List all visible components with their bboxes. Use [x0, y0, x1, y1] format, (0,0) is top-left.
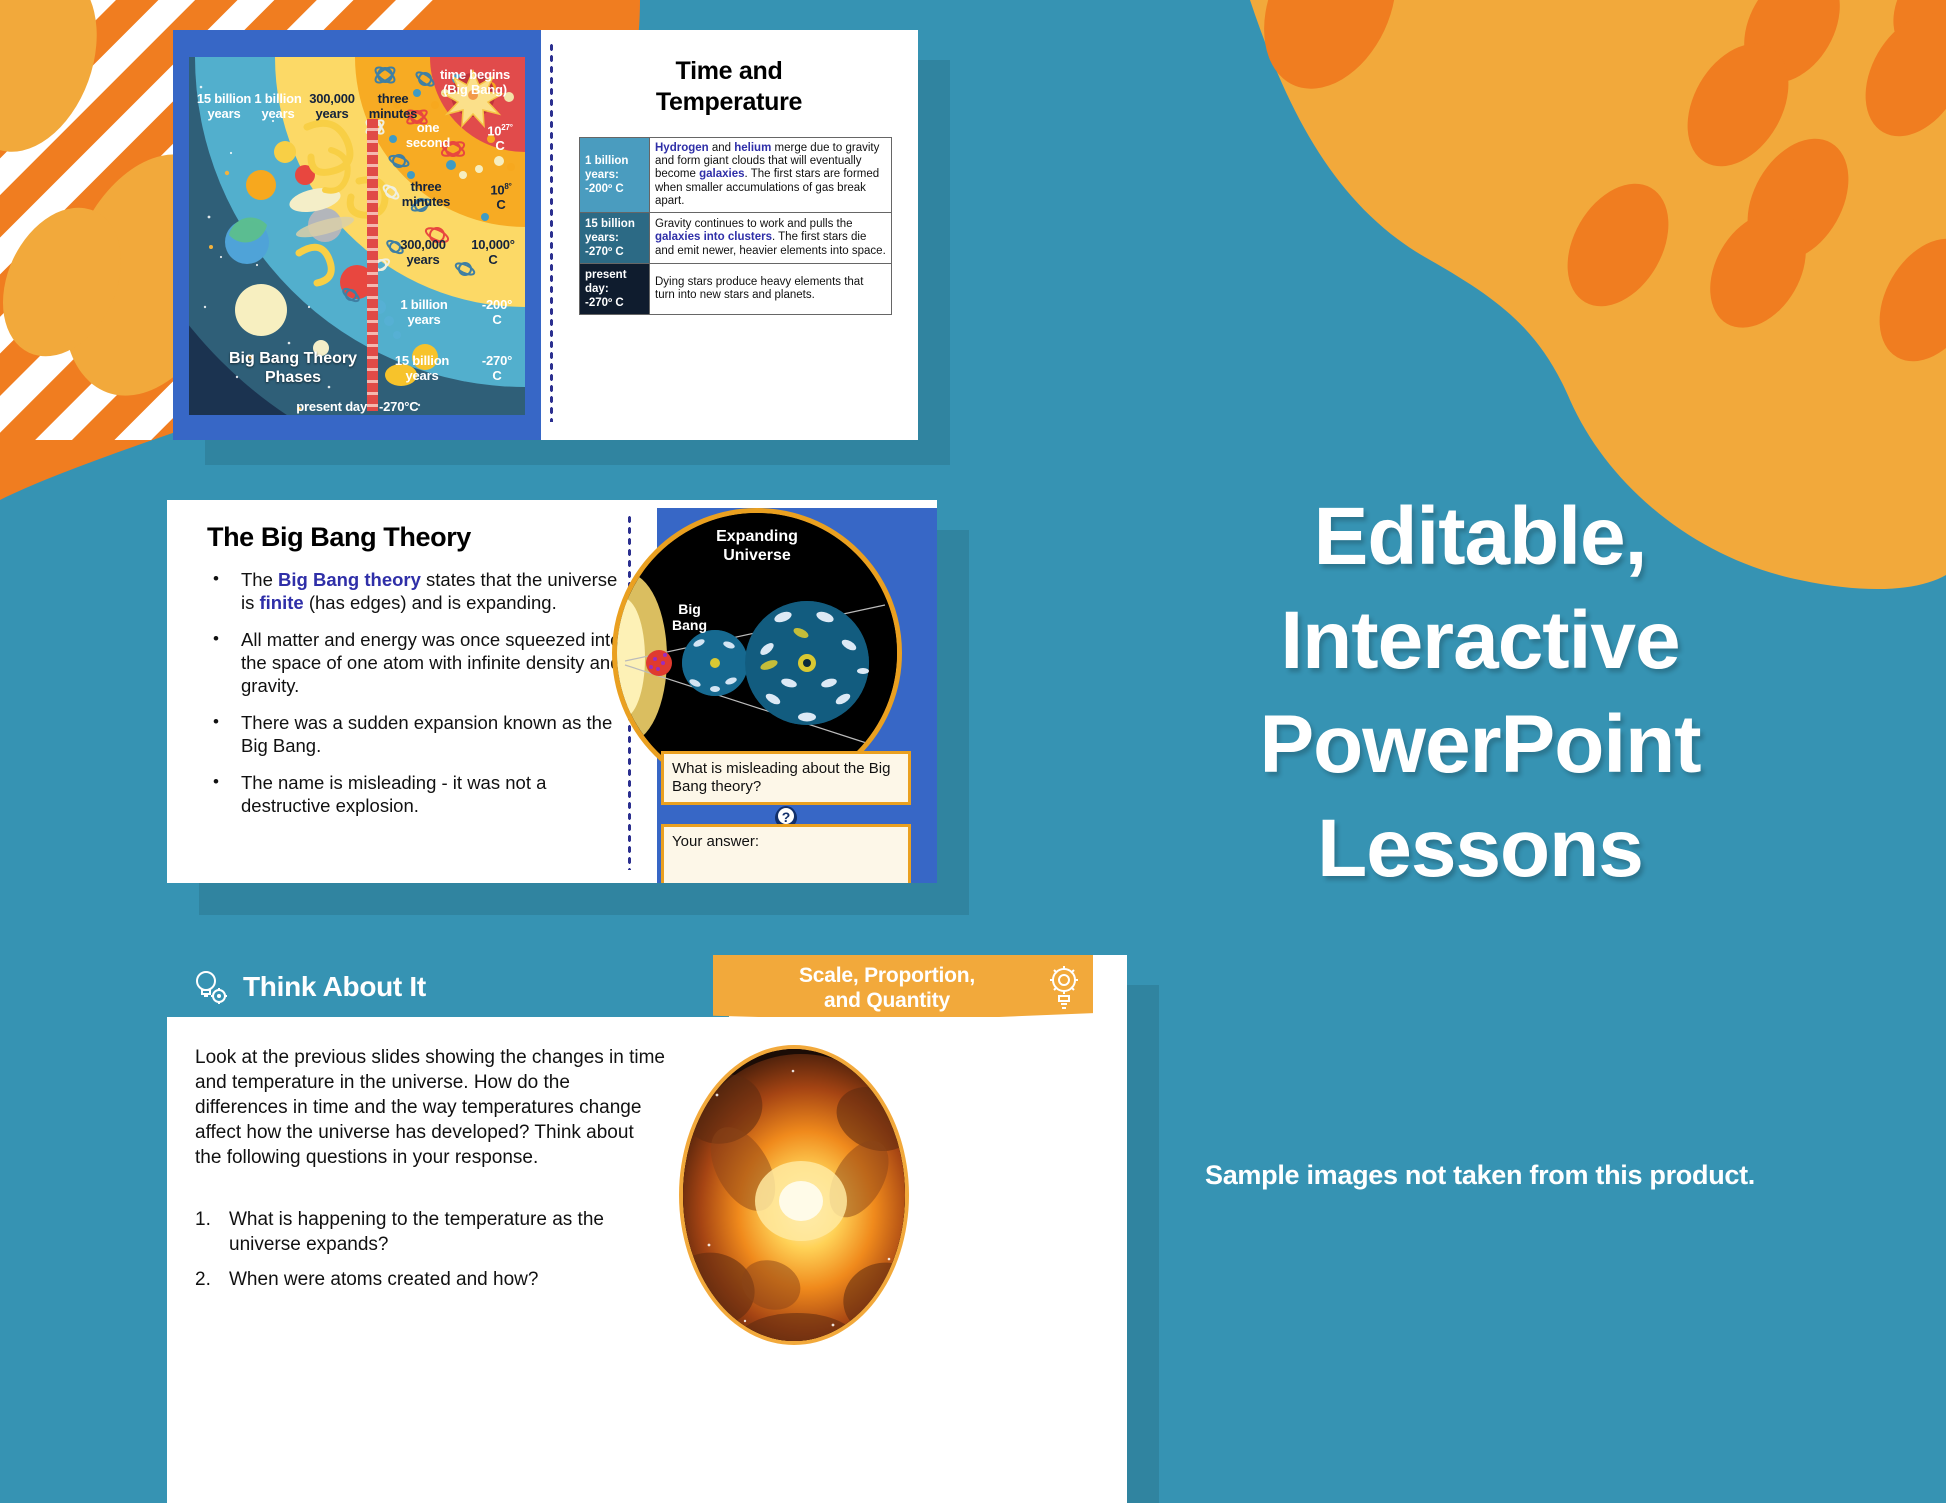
- table-row-key: 1 billionyears:-200º C: [580, 138, 650, 213]
- slide-1-time-and-temperature[interactable]: 15 billionyears 1 billionyears 300,000ye…: [173, 30, 918, 440]
- bullet-item: There was a sudden expansion known as th…: [205, 711, 625, 757]
- slide-2-title: The Big Bang Theory: [207, 522, 471, 553]
- figure-title: ExpandingUniverse: [617, 527, 897, 565]
- slide-1-content: Time andTemperature 1 billionyears:-200º…: [541, 30, 918, 440]
- bullet-item: All matter and energy was once squeezed …: [205, 628, 625, 697]
- slide-1-title: Time andTemperature: [569, 56, 889, 118]
- promo-line-4: Lessons: [1020, 797, 1940, 901]
- slide-2-text-panel: The Big Bang Theory The Big Bang theory …: [167, 500, 652, 883]
- answer-box[interactable]: Your answer:: [661, 824, 911, 883]
- figure-bigbang-label: BigBang: [672, 601, 707, 633]
- label-time-begins: time begins(Big Bang): [427, 67, 523, 97]
- slide-2-the-big-bang-theory[interactable]: The Big Bang Theory The Big Bang theory …: [167, 500, 937, 883]
- label-three-minutes-2: threeminutes: [397, 179, 455, 209]
- temp-10e27: 1027°C: [479, 120, 521, 153]
- temp-minus200: -200°C: [471, 297, 523, 327]
- table-row-value: Hydrogen and helium merge due to gravity…: [650, 138, 892, 213]
- label-1-billion-years: 1 billionyears: [253, 91, 303, 121]
- question-number: 1.: [195, 1207, 211, 1232]
- label-1-billion-years-2: 1 billionyears: [393, 297, 455, 327]
- question-box: What is misleading about the Big Bang th…: [661, 751, 911, 805]
- table-row-key: presentday:-270º C: [580, 264, 650, 315]
- slide-3-body: Look at the previous slides showing the …: [167, 1017, 1087, 1503]
- label-15-billion-years-2: 15 billionyears: [389, 353, 455, 383]
- bigbang-phases-diagram: 15 billionyears 1 billionyears 300,000ye…: [189, 57, 525, 415]
- time-temperature-table: 1 billionyears:-200º CHydrogen and heliu…: [579, 137, 892, 315]
- promo-line-2: Interactive: [1020, 589, 1940, 693]
- label-300000-years-2: 300,000years: [389, 237, 457, 267]
- bullet-item: The Big Bang theory states that the univ…: [205, 568, 625, 614]
- label-300000-years: 300,000years: [301, 91, 363, 121]
- slide-2-figure-panel: ExpandingUniverse BigBang What is mislea…: [657, 508, 937, 883]
- nebula-image: [683, 1049, 909, 1345]
- bigbang-phases-panel: 15 billionyears 1 billionyears 300,000ye…: [173, 30, 541, 440]
- label-one-second: onesecond: [401, 120, 455, 150]
- dotted-divider: [549, 42, 554, 422]
- table-row-key: 15 billionyears:-270º C: [580, 213, 650, 264]
- temp-minus270: -270°C: [471, 353, 523, 383]
- table-row: 1 billionyears:-200º CHydrogen and heliu…: [580, 138, 892, 213]
- table-row-value: Gravity continues to work and pulls the …: [650, 213, 892, 264]
- lightbulb-gear-icon: [1044, 965, 1084, 1011]
- table-row-value: Dying stars produce heavy elements that …: [650, 264, 892, 315]
- slide-3-title: Think About It: [243, 971, 426, 1003]
- numbered-question: 2.When were atoms created and how?: [195, 1267, 675, 1292]
- question-number: 2.: [195, 1267, 211, 1292]
- svg-text:?: ?: [782, 809, 791, 825]
- promo-headline: Editable, Interactive PowerPoint Lessons: [1020, 485, 1940, 901]
- table-row: 15 billionyears:-270º CGravity continues…: [580, 213, 892, 264]
- label-15-billion-years: 15 billionyears: [195, 91, 253, 121]
- label-present-day: present day: [289, 399, 367, 414]
- promo-line-1: Editable,: [1020, 485, 1940, 589]
- slide-3-think-about-it[interactable]: Think About It Scale, Proportion,and Qua…: [167, 955, 1127, 1503]
- slide-3-paragraph: Look at the previous slides showing the …: [195, 1045, 665, 1170]
- table-row: presentday:-270º CDying stars produce he…: [580, 264, 892, 315]
- lightbulb-gear-icon: [189, 967, 231, 1009]
- temp-10000: 10,000°C: [463, 237, 523, 267]
- slide-3-question-list: 1.What is happening to the temperature a…: [195, 1207, 675, 1302]
- temp-10e8: 108°C: [481, 179, 521, 212]
- numbered-question: 1.What is happening to the temperature a…: [195, 1207, 675, 1257]
- label-three-minutes: threeminutes: [365, 91, 421, 121]
- bullet-item: The name is misleading - it was not a de…: [205, 771, 625, 817]
- disclaimer-text: Sample images not taken from this produc…: [1020, 1160, 1940, 1191]
- nebula-photo: [679, 1045, 909, 1345]
- promo-line-3: PowerPoint: [1020, 693, 1940, 797]
- slide-2-bullet-list: The Big Bang theory states that the univ…: [205, 568, 625, 831]
- diagram-title: Big Bang TheoryPhases: [203, 349, 383, 387]
- crosscutting-concept-label: Scale, Proportion,and Quantity: [727, 963, 1047, 1013]
- temp-present-day: -270°C: [379, 399, 445, 414]
